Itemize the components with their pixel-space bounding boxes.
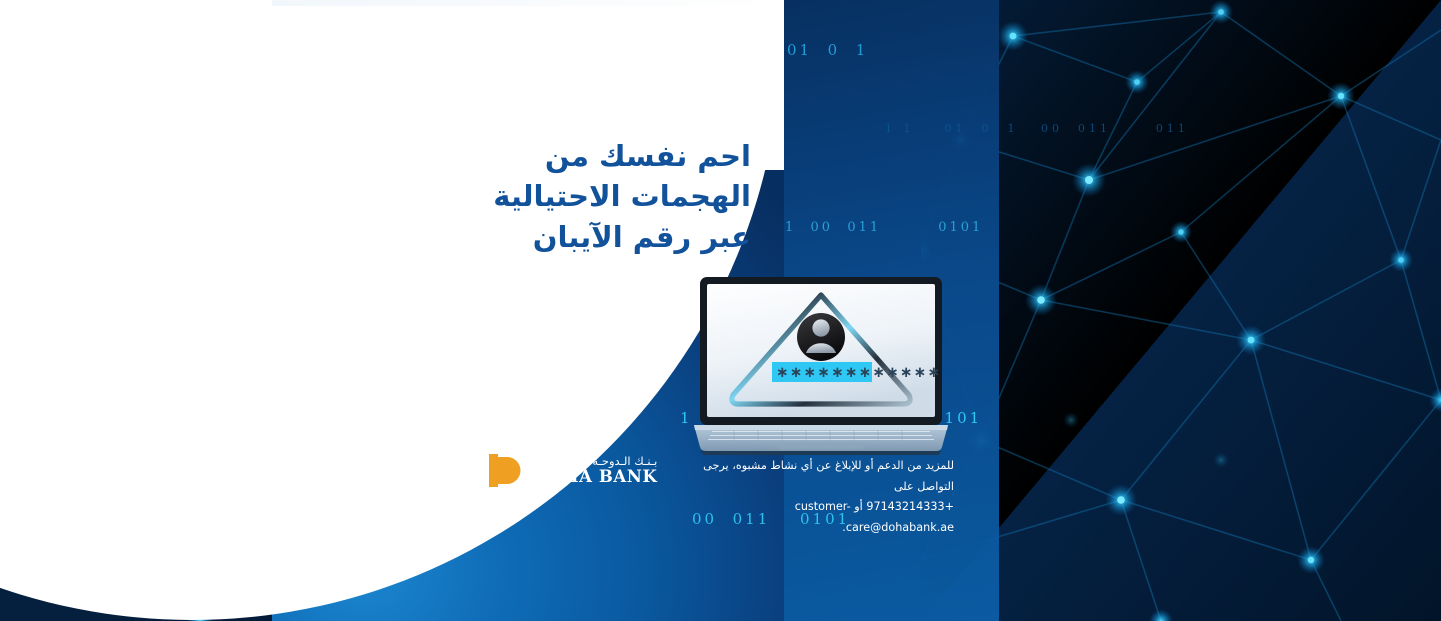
- headline-line-1: احم نفسك من: [421, 136, 751, 176]
- laptop-illustration: ∗∗∗∗∗∗∗∗∗∗∗∗: [694, 277, 948, 455]
- logo-english-name: DOHA BANK: [533, 469, 657, 486]
- promotional-banner: احم نفسك من الهجمات الاحتيالية عبر رقم ا…: [0, 0, 1441, 621]
- contact-line-2: +97143214333 أو customer-care@dohabank.a…: [686, 497, 954, 538]
- headline-line-3: عبر رقم الآيبان: [421, 217, 751, 257]
- page-title: احم نفسك من الهجمات الاحتيالية عبر رقم ا…: [421, 136, 751, 257]
- binary-digits-faint: 1 1 01 0 1 00 011 011: [885, 122, 1189, 135]
- svg-text:∗∗∗∗∗∗∗∗∗∗∗∗: ∗∗∗∗∗∗∗∗∗∗∗∗: [776, 363, 941, 381]
- contact-line-1: للمزيد من الدعم أو للإبلاغ عن أي نشاط مش…: [686, 456, 954, 497]
- logo-mark-icon: [489, 452, 524, 489]
- binary-digits-middle: 1 00 011 0101: [785, 220, 983, 235]
- contact-info: للمزيد من الدعم أو للإبلاغ عن أي نشاط مش…: [686, 456, 954, 539]
- binary-digits-top: 01 0 1: [787, 41, 868, 59]
- headline-line-2: الهجمات الاحتيالية: [421, 176, 751, 216]
- white-top-strip: [272, 0, 784, 6]
- logo-arabic-name: بـنـك الـدوحـة: [592, 456, 657, 468]
- network-background-right: [921, 0, 1441, 621]
- doha-bank-logo: بـنـك الـدوحـة DOHA BANK: [489, 452, 657, 489]
